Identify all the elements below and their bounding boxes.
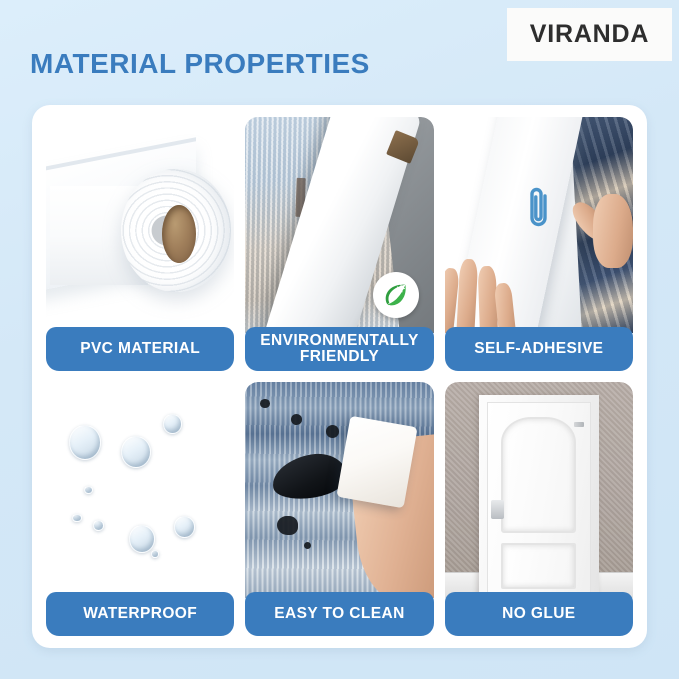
- self-adhesive-image: [445, 117, 633, 333]
- water-droplet: [174, 516, 195, 538]
- waterproof-image: [46, 382, 234, 598]
- door-leaf-shape: [487, 402, 591, 598]
- door-bottom-panel: [501, 543, 576, 590]
- pvc-roll-image: [46, 117, 234, 333]
- water-droplet: [163, 414, 182, 433]
- feature-card-easy-to-clean[interactable]: EASY TO CLEAN: [245, 382, 433, 636]
- feature-card-self-adhesive[interactable]: SELF-ADHESIVE: [445, 117, 633, 371]
- door-handle-icon: [491, 500, 504, 519]
- water-droplet: [151, 550, 159, 558]
- features-panel: PVC MATERIAL: [32, 105, 647, 648]
- features-grid: PVC MATERIAL: [46, 117, 633, 636]
- stain-spot: [277, 516, 298, 535]
- stain-spot: [291, 414, 302, 425]
- feature-label-easy-to-clean: EASY TO CLEAN: [245, 592, 433, 636]
- door-hinge-shape: [574, 422, 583, 427]
- no-glue-door-image: [445, 382, 633, 598]
- eco-leaf-badge: [373, 272, 419, 318]
- thumb-shape: [593, 194, 633, 268]
- feature-label-line1: ENVIRONMENTALLY: [260, 332, 418, 349]
- stain-spot: [326, 425, 339, 438]
- water-droplet: [84, 486, 93, 495]
- pvc-cardboard-core: [162, 205, 196, 263]
- pvc-roll-shape: [121, 169, 230, 292]
- leaf-icon: [381, 280, 411, 310]
- cleaning-cloth-shape: [337, 416, 418, 509]
- feature-card-environmentally-friendly[interactable]: ENVIRONMENTALLY FRIENDLY: [245, 117, 433, 371]
- feature-label-line2: FRIENDLY: [300, 348, 379, 365]
- feature-card-pvc-material[interactable]: PVC MATERIAL: [46, 117, 234, 371]
- water-droplet: [69, 425, 101, 460]
- door-frame-shape: [479, 395, 600, 598]
- droplet-trail: [185, 468, 187, 511]
- water-droplet: [72, 514, 81, 523]
- eco-wallpaper-image: [245, 117, 433, 333]
- feature-card-no-glue[interactable]: NO GLUE: [445, 382, 633, 636]
- stain-spot: [304, 542, 312, 550]
- water-droplet: [121, 436, 151, 468]
- easy-to-clean-image: [245, 382, 433, 598]
- left-hand-shape: [445, 251, 517, 333]
- finger-shape: [494, 282, 518, 333]
- feature-label-waterproof: WATERPROOF: [46, 592, 234, 636]
- feature-card-waterproof[interactable]: WATERPROOF: [46, 382, 234, 636]
- door-top-panel: [501, 417, 576, 533]
- stain-spot: [260, 399, 269, 408]
- paperclip-icon: [524, 182, 554, 236]
- page-title: MATERIAL PROPERTIES: [30, 48, 370, 80]
- feature-label-no-glue: NO GLUE: [445, 592, 633, 636]
- brand-logo: VIRANDA: [507, 8, 672, 61]
- feature-label-self-adhesive: SELF-ADHESIVE: [445, 327, 633, 371]
- water-droplet: [129, 525, 155, 553]
- feature-label-pvc-material: PVC MATERIAL: [46, 327, 234, 371]
- droplet-trail: [131, 391, 133, 439]
- page-header: MATERIAL PROPERTIES VIRANDA: [0, 0, 679, 105]
- right-hand-shape: [576, 190, 633, 276]
- feature-label-environmentally-friendly: ENVIRONMENTALLY FRIENDLY: [245, 327, 433, 371]
- water-droplet: [93, 520, 104, 531]
- brand-logo-text: VIRANDA: [530, 20, 650, 49]
- droplet-trail: [135, 477, 137, 525]
- finger-shape: [456, 258, 479, 333]
